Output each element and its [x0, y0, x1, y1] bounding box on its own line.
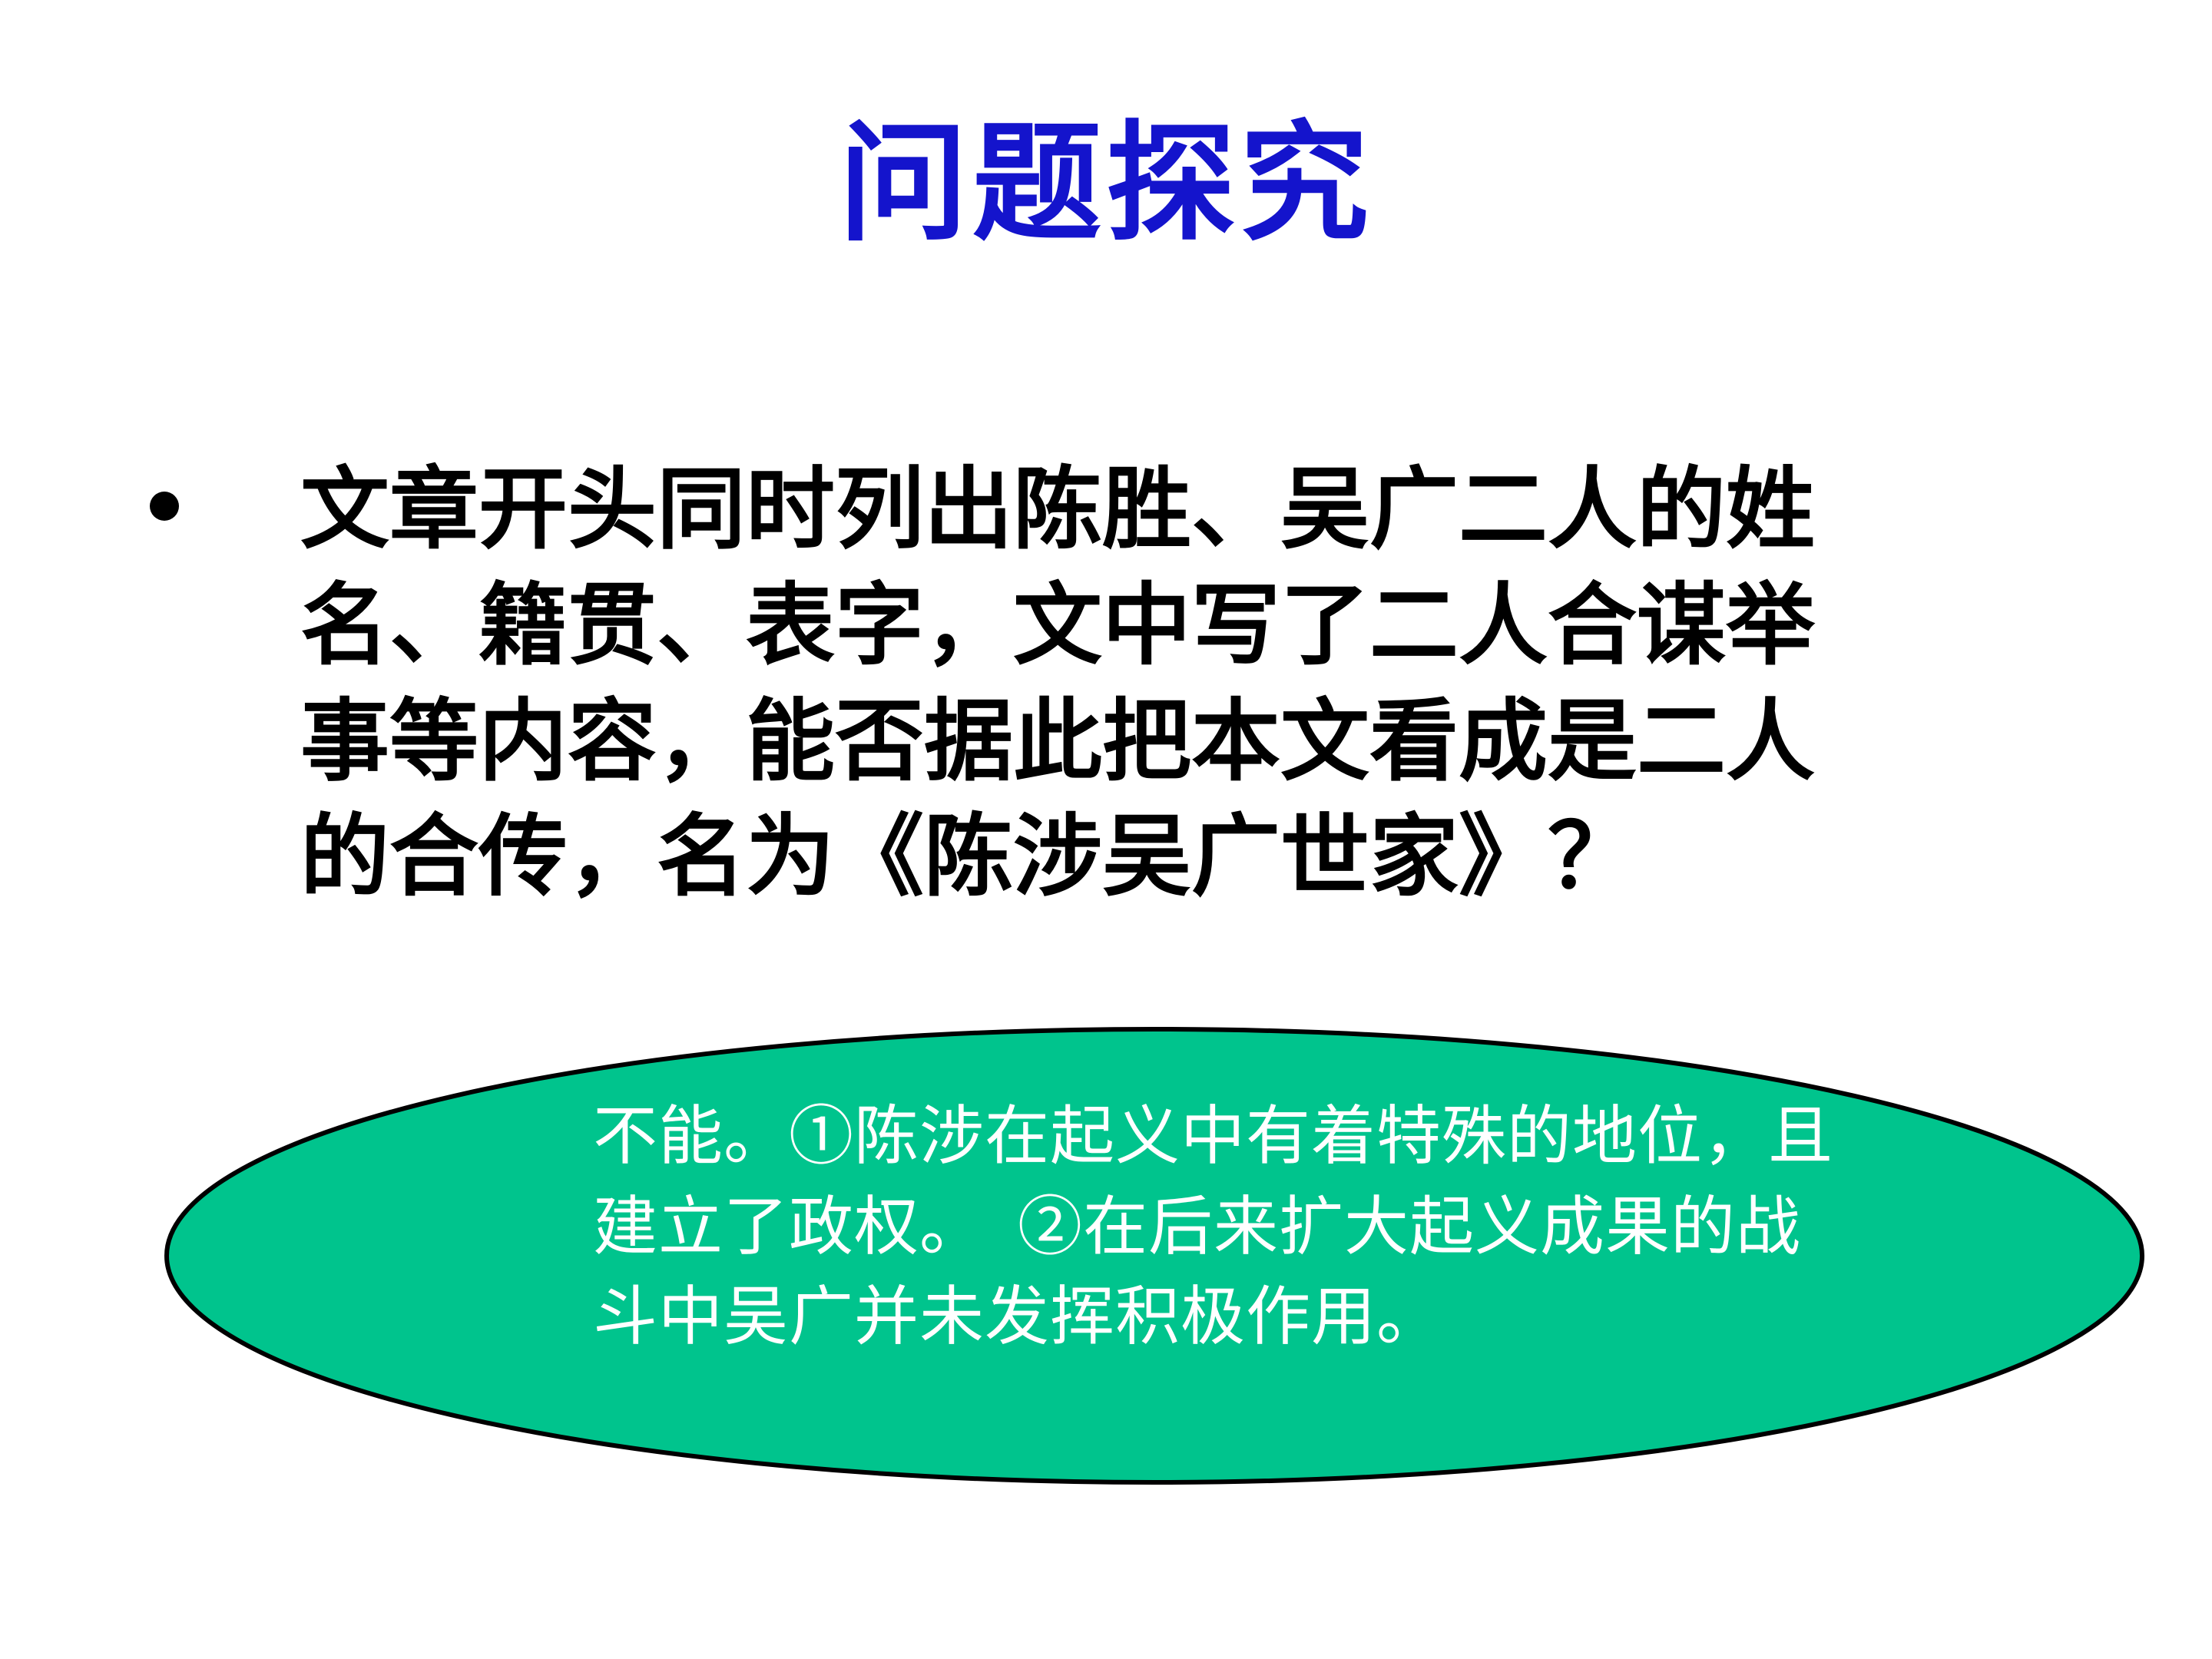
bullet-list: 文章开头同时列出陈胜、吴广二人的姓 名、籍贯、表字，文中写了二人合谋举 事等内容… — [150, 452, 2055, 915]
answer-callout: 不能。①陈涉在起义中有着特殊的地位，且 建立了政权。 ②在后来扩大起义成果的战 … — [163, 1025, 2146, 1486]
page-title: 问题探究 — [0, 115, 2212, 250]
answer-line-1: 不能。①陈涉在起义中有着特殊的地位，且 — [593, 1091, 2098, 1182]
question-line-1: 文章开头同时列出陈胜、吴广二人的姓 — [300, 452, 2055, 568]
bullet-marker-icon — [150, 492, 184, 521]
answer-line-2: 建立了政权。 ②在后来扩大起义成果的战 — [593, 1182, 2098, 1273]
slide-canvas: 问题探究 文章开头同时列出陈胜、吴广二人的姓 名、籍贯、表字，文中写了二人合谋举… — [0, 0, 2212, 1659]
question-line-4: 的合传，名为《陈涉吴广世家》？ — [300, 799, 2055, 915]
answer-text: 不能。①陈涉在起义中有着特殊的地位，且 建立了政权。 ②在后来扩大起义成果的战 … — [593, 1091, 2098, 1363]
answer-line-3: 斗中吴广并未发挥积极作用。 — [593, 1272, 2098, 1363]
question-line-3: 事等内容，能否据此把本文看成是二人 — [300, 684, 2055, 800]
bullet-dot-icon — [150, 492, 179, 521]
question-line-2: 名、籍贯、表字，文中写了二人合谋举 — [300, 568, 2055, 684]
question-text: 文章开头同时列出陈胜、吴广二人的姓 名、籍贯、表字，文中写了二人合谋举 事等内容… — [300, 452, 2055, 915]
